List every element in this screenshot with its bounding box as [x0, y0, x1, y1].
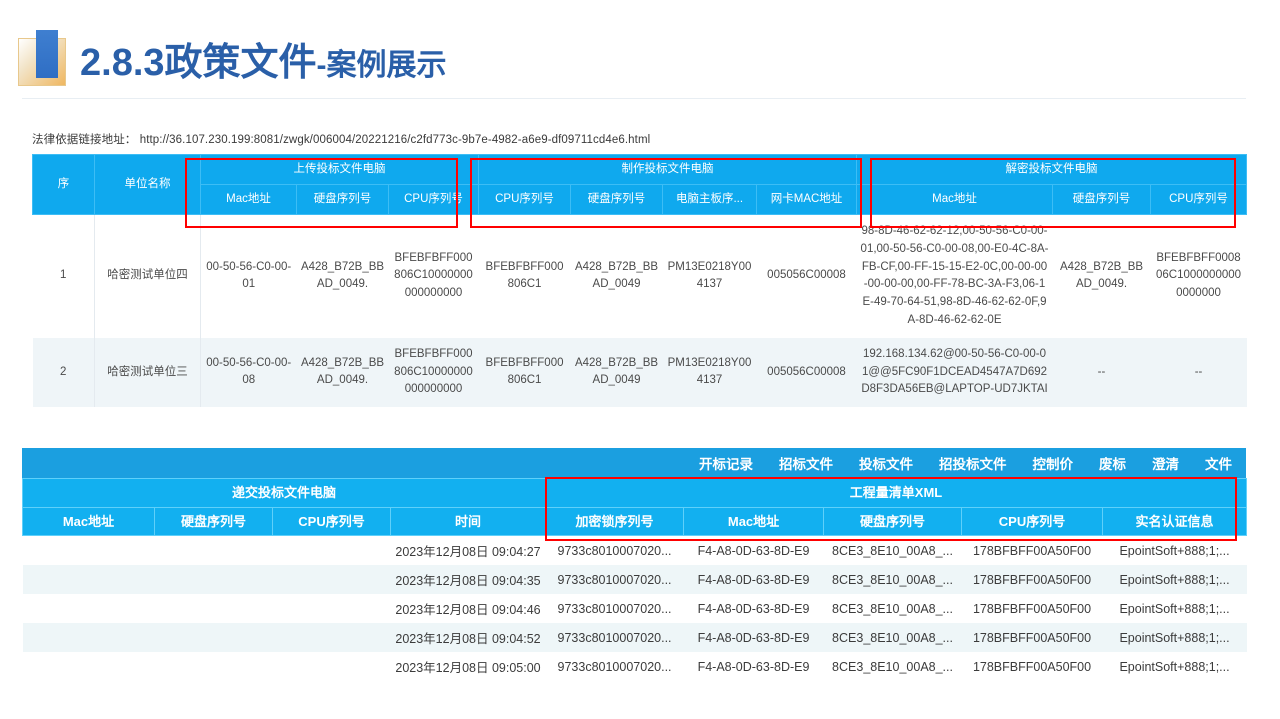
table-body: 2023年12月08日 09:04:27 9733c8010007020... …	[23, 536, 1247, 682]
cell-submit-time: 2023年12月08日 09:05:00	[391, 652, 546, 681]
group-decrypt-computer: 解密投标文件电脑	[857, 155, 1247, 185]
cell-submit-disk	[155, 565, 273, 594]
tab-bid-document[interactable]: 投标文件	[859, 453, 913, 473]
cell-realname: EpointSoft+888;1;...	[1103, 652, 1247, 681]
subcol-make-nic-mac: 网卡MAC地址	[757, 184, 857, 214]
table-sub-header-row: Mac地址 硬盘序列号 CPU序列号 时间 加密锁序列号 Mac地址 硬盘序列号…	[23, 507, 1247, 536]
cell-xml-cpu: 178BFBFF00A50F00	[962, 652, 1103, 681]
cell-submit-cpu	[273, 623, 391, 652]
tab-control-price[interactable]: 控制价	[1033, 453, 1074, 473]
subcol-submit-cpu: CPU序列号	[273, 507, 391, 536]
table-head: 递交投标文件电脑 工程量清单XML Mac地址 硬盘序列号 CPU序列号 时间 …	[23, 479, 1247, 536]
cell-xml-disk: 8CE3_8E10_00A8_...	[824, 536, 962, 566]
cell-submit-time: 2023年12月08日 09:04:46	[391, 594, 546, 623]
cell-company: 哈密测试单位四	[95, 214, 201, 337]
cell-make-cpu: BFEBFBFF000806C1	[479, 214, 571, 337]
cell-submit-time: 2023年12月08日 09:04:52	[391, 623, 546, 652]
tab-file[interactable]: 文件	[1205, 453, 1232, 473]
cell-lock-sn: 9733c8010007020...	[546, 594, 684, 623]
cell-xml-disk: 8CE3_8E10_00A8_...	[824, 594, 962, 623]
subcol-decrypt-disk: 硬盘序列号	[1053, 184, 1151, 214]
cell-xml-cpu: 178BFBFF00A50F00	[962, 594, 1103, 623]
title-decoration	[18, 36, 78, 90]
table-head: 序 单位名称 上传投标文件电脑 制作投标文件电脑 解密投标文件电脑 Mac地址 …	[33, 155, 1247, 215]
cell-submit-time: 2023年12月08日 09:04:35	[391, 565, 546, 594]
group-submit-computer: 递交投标文件电脑	[23, 479, 546, 508]
page-title: 2.8.3政策文件-案例展示	[80, 44, 447, 82]
table-row[interactable]: 2023年12月08日 09:04:27 9733c8010007020... …	[23, 536, 1247, 566]
table-group-header-row: 序 单位名称 上传投标文件电脑 制作投标文件电脑 解密投标文件电脑	[33, 155, 1247, 185]
cell-submit-mac	[23, 652, 155, 681]
group-upload-computer: 上传投标文件电脑	[201, 155, 479, 185]
subcol-xml-cpu: CPU序列号	[962, 507, 1103, 536]
subcol-make-disk: 硬盘序列号	[571, 184, 663, 214]
cell-upload-disk: A428_B72B_BBAD_0049.	[297, 214, 389, 337]
subcol-make-cpu: CPU序列号	[479, 184, 571, 214]
cell-submit-cpu	[273, 536, 391, 566]
table-group-header-row: 递交投标文件电脑 工程量清单XML	[23, 479, 1247, 508]
cell-lock-sn: 9733c8010007020...	[546, 536, 684, 566]
cell-decrypt-disk: --	[1053, 338, 1151, 407]
cell-upload-cpu: BFEBFBFF000806C10000000000000000	[389, 338, 479, 407]
submit-xml-table: 递交投标文件电脑 工程量清单XML Mac地址 硬盘序列号 CPU序列号 时间 …	[22, 478, 1247, 681]
cell-make-nic-mac: 005056C00008	[757, 338, 857, 407]
subcol-lock-sn: 加密锁序列号	[546, 507, 684, 536]
bid-computer-table: 序 单位名称 上传投标文件电脑 制作投标文件电脑 解密投标文件电脑 Mac地址 …	[32, 154, 1247, 407]
module-tab-bar: 开标记录 招标文件 投标文件 招投标文件 控制价 废标 澄清 文件	[22, 448, 1246, 478]
subcol-make-board: 电脑主板序...	[663, 184, 757, 214]
cell-decrypt-mac: 192.168.134.62@00-50-56-C0-00-01@@5FC90F…	[857, 338, 1053, 407]
cell-upload-mac: 00-50-56-C0-00-01	[201, 214, 297, 337]
slide-root: 2.8.3政策文件-案例展示 法律依据链接地址： http://36.107.2…	[0, 0, 1280, 719]
table-row[interactable]: 2 哈密测试单位三 00-50-56-C0-00-08 A428_B72B_BB…	[33, 338, 1247, 407]
tab-废标[interactable]: 废标	[1099, 453, 1126, 473]
cell-realname: EpointSoft+888;1;...	[1103, 565, 1247, 594]
cell-submit-time: 2023年12月08日 09:04:27	[391, 536, 546, 566]
tab-tender-document[interactable]: 招标文件	[779, 453, 833, 473]
cell-lock-sn: 9733c8010007020...	[546, 652, 684, 681]
cell-make-cpu: BFEBFBFF000806C1	[479, 338, 571, 407]
table-sub-header-row: Mac地址 硬盘序列号 CPU序列号 CPU序列号 硬盘序列号 电脑主板序...…	[33, 184, 1247, 214]
cell-xml-disk: 8CE3_8E10_00A8_...	[824, 652, 962, 681]
cell-xml-mac: F4-A8-0D-63-8D-E9	[684, 623, 824, 652]
slide-title: 2.8.3政策文件-案例展示	[0, 36, 447, 90]
table-row[interactable]: 1 哈密测试单位四 00-50-56-C0-00-01 A428_B72B_BB…	[33, 214, 1247, 337]
cell-xml-mac: F4-A8-0D-63-8D-E9	[684, 652, 824, 681]
cell-realname: EpointSoft+888;1;...	[1103, 594, 1247, 623]
table-row[interactable]: 2023年12月08日 09:04:52 9733c8010007020... …	[23, 623, 1247, 652]
subcol-submit-time: 时间	[391, 507, 546, 536]
cell-xml-cpu: 178BFBFF00A50F00	[962, 623, 1103, 652]
subcol-xml-mac: Mac地址	[684, 507, 824, 536]
tab-open-bid-record[interactable]: 开标记录	[699, 453, 753, 473]
cell-submit-mac	[23, 594, 155, 623]
cell-decrypt-mac: 98-8D-46-62-62-12,00-50-56-C0-00-01,00-5…	[857, 214, 1053, 337]
cell-submit-cpu	[273, 652, 391, 681]
cell-upload-cpu: BFEBFBFF000806C10000000000000000	[389, 214, 479, 337]
cell-lock-sn: 9733c8010007020...	[546, 565, 684, 594]
subcol-decrypt-mac: Mac地址	[857, 184, 1053, 214]
subcol-submit-mac: Mac地址	[23, 507, 155, 536]
cell-decrypt-cpu: --	[1151, 338, 1247, 407]
cell-make-board: PM13E0218Y004137	[663, 338, 757, 407]
cell-index: 2	[33, 338, 95, 407]
top-screenshot-panel: 法律依据链接地址： http://36.107.230.199:8081/zwg…	[22, 98, 1246, 436]
page-title-main: 2.8.3政策文件	[80, 42, 317, 84]
group-quantity-xml: 工程量清单XML	[546, 479, 1247, 508]
cell-xml-mac: F4-A8-0D-63-8D-E9	[684, 565, 824, 594]
page-title-dash: -	[317, 49, 327, 82]
cell-submit-disk	[155, 623, 273, 652]
cell-submit-mac	[23, 565, 155, 594]
cell-submit-mac	[23, 536, 155, 566]
table-body: 1 哈密测试单位四 00-50-56-C0-00-01 A428_B72B_BB…	[33, 214, 1247, 407]
cell-xml-mac: F4-A8-0D-63-8D-E9	[684, 536, 824, 566]
subcol-upload-cpu: CPU序列号	[389, 184, 479, 214]
subcol-xml-disk: 硬盘序列号	[824, 507, 962, 536]
bottom-screenshot-panel: 开标记录 招标文件 投标文件 招投标文件 控制价 废标 澄清 文件	[22, 448, 1246, 680]
cell-realname: EpointSoft+888;1;...	[1103, 623, 1247, 652]
cell-company: 哈密测试单位三	[95, 338, 201, 407]
cell-decrypt-cpu: BFEBFBFF000806C10000000000000000	[1151, 214, 1247, 337]
cell-xml-cpu: 178BFBFF00A50F00	[962, 536, 1103, 566]
table-row[interactable]: 2023年12月08日 09:05:00 9733c8010007020... …	[23, 652, 1247, 681]
table-row[interactable]: 2023年12月08日 09:04:35 9733c8010007020... …	[23, 565, 1247, 594]
cell-index: 1	[33, 214, 95, 337]
cell-submit-cpu	[273, 565, 391, 594]
tab-clarification[interactable]: 澄清	[1152, 453, 1179, 473]
col-company: 单位名称	[95, 155, 201, 215]
cell-submit-mac	[23, 623, 155, 652]
subcol-decrypt-cpu: CPU序列号	[1151, 184, 1247, 214]
cell-submit-disk	[155, 594, 273, 623]
cell-realname: EpointSoft+888;1;...	[1103, 536, 1247, 566]
cell-xml-disk: 8CE3_8E10_00A8_...	[824, 565, 962, 594]
group-make-computer: 制作投标文件电脑	[479, 155, 857, 185]
cell-make-disk: A428_B72B_BBAD_0049	[571, 214, 663, 337]
cell-lock-sn: 9733c8010007020...	[546, 623, 684, 652]
cell-submit-cpu	[273, 594, 391, 623]
cell-submit-disk	[155, 652, 273, 681]
cell-upload-mac: 00-50-56-C0-00-08	[201, 338, 297, 407]
legal-basis-link[interactable]: 法律依据链接地址： http://36.107.230.199:8081/zwg…	[32, 131, 650, 147]
table-row[interactable]: 2023年12月08日 09:04:46 9733c8010007020... …	[23, 594, 1247, 623]
title-blue-bar	[36, 30, 58, 78]
subcol-realname-info: 实名认证信息	[1103, 507, 1247, 536]
page-title-sub: 案例展示	[327, 49, 447, 82]
cell-xml-mac: F4-A8-0D-63-8D-E9	[684, 594, 824, 623]
cell-make-nic-mac: 005056C00008	[757, 214, 857, 337]
subcol-submit-disk: 硬盘序列号	[155, 507, 273, 536]
cell-xml-disk: 8CE3_8E10_00A8_...	[824, 623, 962, 652]
subcol-upload-mac: Mac地址	[201, 184, 297, 214]
cell-decrypt-disk: A428_B72B_BBAD_0049.	[1053, 214, 1151, 337]
col-index: 序	[33, 155, 95, 215]
subcol-upload-disk: 硬盘序列号	[297, 184, 389, 214]
cell-make-disk: A428_B72B_BBAD_0049	[571, 338, 663, 407]
cell-make-board: PM13E0218Y004137	[663, 214, 757, 337]
tab-tender-bid-document[interactable]: 招投标文件	[939, 453, 1007, 473]
cell-upload-disk: A428_B72B_BBAD_0049.	[297, 338, 389, 407]
cell-submit-disk	[155, 536, 273, 566]
cell-xml-cpu: 178BFBFF00A50F00	[962, 565, 1103, 594]
